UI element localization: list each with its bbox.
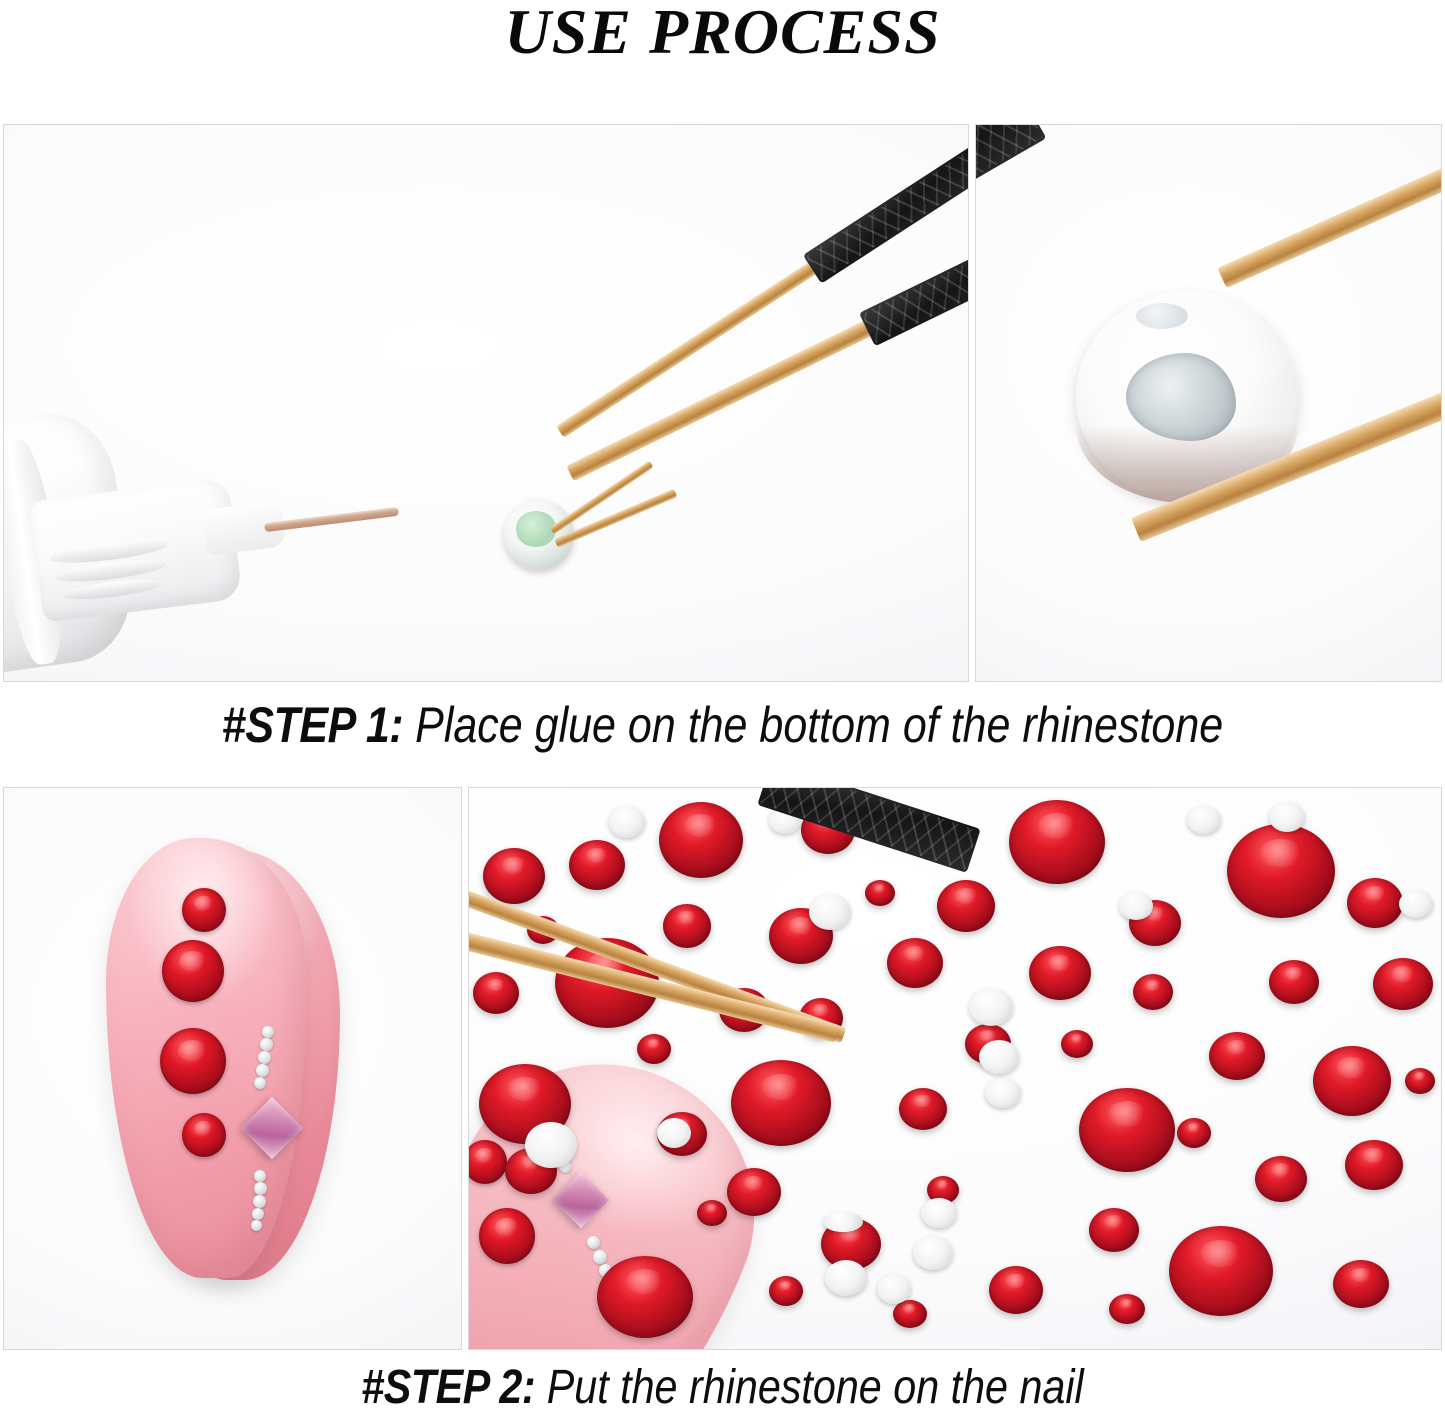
rhinestone-flat-back bbox=[1119, 892, 1153, 920]
rhinestone-flat-back bbox=[985, 1078, 1021, 1108]
step-1-label: #STEP 1: bbox=[222, 697, 403, 753]
silver-bead bbox=[251, 1220, 262, 1231]
loose-rhinestone bbox=[1345, 1140, 1403, 1190]
silver-bead bbox=[593, 1250, 607, 1264]
step-2-caption: #STEP 2: Put the rhinestone on the nail bbox=[101, 1360, 1344, 1416]
loose-rhinestone bbox=[887, 938, 943, 988]
loose-rhinestone bbox=[1209, 1032, 1265, 1080]
step-1-panel-row bbox=[3, 124, 1442, 682]
glue-bottle-tweezers-photo bbox=[3, 124, 969, 682]
loose-rhinestone bbox=[473, 972, 519, 1014]
rhinestone-flat-back bbox=[657, 1118, 691, 1148]
loose-rhinestone bbox=[569, 840, 625, 890]
loose-rhinestone bbox=[1109, 1294, 1145, 1324]
loose-rhinestone bbox=[1405, 1068, 1435, 1094]
loose-rhinestone bbox=[893, 1300, 927, 1328]
loose-rhinestone bbox=[1373, 958, 1433, 1010]
loose-rhinestone bbox=[1313, 1046, 1391, 1116]
silver-bead bbox=[254, 1170, 266, 1182]
loose-rhinestone bbox=[1347, 878, 1403, 928]
rhinestone-flat-back bbox=[969, 988, 1013, 1026]
loose-rhinestone bbox=[663, 904, 711, 948]
loose-rhinestone bbox=[1009, 800, 1105, 884]
nail-rhinestone bbox=[162, 940, 224, 1002]
page-title: USE PROCESS bbox=[0, 0, 1445, 68]
rhinestone-flat-back bbox=[1399, 890, 1433, 918]
loose-rhinestone bbox=[731, 1060, 831, 1146]
rhinestone-flat-back bbox=[913, 1236, 953, 1270]
loose-rhinestone bbox=[727, 1168, 781, 1216]
loose-rhinestone bbox=[1061, 1030, 1093, 1058]
loose-rhinestone bbox=[1089, 1208, 1139, 1252]
rhinestone-flat-back bbox=[809, 894, 851, 930]
rhinestone-flat-back bbox=[921, 1198, 957, 1228]
glue-bottle bbox=[3, 393, 314, 682]
loose-rhinestone bbox=[1079, 1088, 1175, 1172]
loose-rhinestone bbox=[697, 1200, 727, 1226]
rhinestone-flat-back bbox=[609, 806, 645, 838]
loose-rhinestone bbox=[637, 1034, 671, 1064]
silver-bead bbox=[260, 1038, 273, 1051]
silver-bead bbox=[256, 1064, 269, 1077]
decorated-nail-photo bbox=[3, 787, 462, 1350]
glue-blob-small bbox=[1136, 303, 1188, 329]
infographic-page: USE PROCESS bbox=[0, 0, 1445, 1412]
loose-rhinestone bbox=[483, 848, 545, 904]
step-1-caption: #STEP 1: Place glue on the bottom of the… bbox=[101, 696, 1344, 754]
step-2-panel-row bbox=[3, 787, 1442, 1350]
silver-bead bbox=[258, 1051, 271, 1064]
loose-rhinestone bbox=[1133, 974, 1173, 1010]
loose-rhinestone bbox=[769, 1276, 803, 1306]
nail-rhinestone bbox=[182, 888, 226, 932]
loose-rhinestone bbox=[989, 1266, 1043, 1314]
rhinestone-flat-back bbox=[1187, 806, 1221, 834]
silver-bead bbox=[254, 1182, 267, 1195]
loose-rhinestone bbox=[1177, 1118, 1211, 1148]
rhinestone-field-photo bbox=[468, 787, 1442, 1350]
step-2-label: #STEP 2: bbox=[361, 1361, 535, 1414]
rhinestone-flat-back bbox=[979, 1040, 1019, 1074]
loose-rhinestone bbox=[1333, 1260, 1389, 1308]
step-2-text: Put the rhinestone on the nail bbox=[535, 1361, 1083, 1414]
silver-bead bbox=[253, 1195, 266, 1208]
rhinestone-flat-back bbox=[825, 1260, 867, 1296]
nail-rhinestone bbox=[479, 1208, 535, 1264]
loose-rhinestone bbox=[1255, 1156, 1307, 1202]
rhinestone-back-closeup-photo bbox=[975, 124, 1442, 682]
loose-rhinestone bbox=[597, 1256, 693, 1338]
loose-rhinestone bbox=[1029, 946, 1091, 1000]
loose-rhinestone bbox=[1169, 1226, 1273, 1316]
loose-rhinestone bbox=[659, 802, 743, 878]
nail-rhinestone bbox=[160, 1028, 226, 1094]
loose-rhinestone bbox=[899, 1088, 947, 1130]
step-1-text: Place glue on the bottom of the rhinesto… bbox=[403, 697, 1223, 753]
rhinestone-flat-back bbox=[1269, 802, 1305, 832]
rhinestone-flat-back bbox=[877, 1274, 911, 1304]
loose-rhinestone bbox=[1269, 960, 1319, 1004]
rhinestone-flat-back bbox=[525, 1122, 577, 1168]
rhinestone-flat-back bbox=[823, 1212, 863, 1232]
nail-rhinestone bbox=[182, 1113, 226, 1157]
loose-rhinestone bbox=[865, 880, 895, 906]
loose-rhinestone bbox=[1227, 824, 1335, 918]
silver-bead bbox=[254, 1077, 266, 1089]
silver-bead bbox=[587, 1236, 600, 1249]
silver-bead bbox=[262, 1026, 274, 1038]
loose-rhinestone bbox=[937, 880, 995, 932]
silver-bead bbox=[252, 1208, 264, 1220]
